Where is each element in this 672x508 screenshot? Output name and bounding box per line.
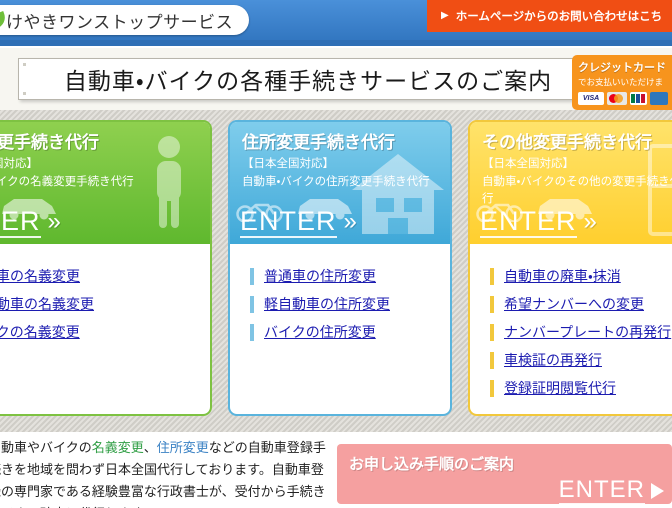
header-underline <box>0 40 672 46</box>
site-header-bar: けやきワンストップサービス ▶ ホームページからのお問い合わせはこち <box>0 0 672 46</box>
list-item[interactable]: ナンバープレートの再発行 <box>470 318 672 346</box>
link-plate-reissue[interactable]: ナンバープレートの再発行 <box>504 322 671 342</box>
apply-enter-link[interactable]: ENTER <box>559 476 664 504</box>
card-enter-link[interactable]: ENTER » <box>480 206 592 238</box>
triangle-right-icon <box>651 483 664 499</box>
apply-guide-box[interactable]: お申し込み手順のご案内 ENTER <box>337 444 672 504</box>
list-item[interactable]: 普通車の住所変更 <box>230 262 450 290</box>
service-card-name-change[interactable]: 名義変更手続き代行 【日本全国対応】 自動車・バイクの名義変更手続き代行 <box>0 120 212 416</box>
list-item[interactable]: 自動車の廃車・抹消 <box>470 262 672 290</box>
list-item[interactable]: 希望ナンバーへの変更 <box>470 290 672 318</box>
card-title: 名義変更手続き代行 <box>0 128 99 153</box>
service-card-row: 名義変更手続き代行 【日本全国対応】 自動車・バイクの名義変更手続き代行 <box>0 120 672 418</box>
link-preferred-number[interactable]: 希望ナンバーへの変更 <box>504 294 644 314</box>
page-title-box: 自動車・バイクの各種手続きサービスのご案内 <box>18 58 598 100</box>
corner-mark-icon <box>23 63 26 66</box>
card-coverage: 【日本全国対応】 <box>482 155 574 171</box>
triangle-right-icon: ▶ <box>441 11 449 21</box>
card-description: 自動車・バイクの名義変更手続き代行 <box>0 173 146 190</box>
house-icon <box>350 150 446 238</box>
intro-line1-b: 、 <box>144 441 157 456</box>
link-name-change-bike[interactable]: バイクの名義変更 <box>0 322 80 342</box>
intro-line1-c: などの自動車登 <box>209 441 300 456</box>
page-title: 自動車・バイクの各種手続きサービスのご案内 <box>64 62 552 96</box>
link-scrap-car[interactable]: 自動車の廃車・抹消 <box>504 266 621 286</box>
card-link-list: 普通車の住所変更 軽自動車の住所変更 バイクの住所変更 <box>230 244 450 346</box>
card-enter-link[interactable]: ENTER » <box>0 206 56 238</box>
apply-guide-title: お申し込み手順のご案内 <box>349 453 514 474</box>
enter-label: ENTER <box>0 206 41 238</box>
link-registration-view-agency[interactable]: 登録証明閲覧代行 <box>504 378 616 398</box>
list-item[interactable]: バイクの住所変更 <box>230 318 450 346</box>
service-card-address-change[interactable]: 住所変更手続き代行 【日本全国対応】 自動車・バイクの住所変更手続き代行 <box>228 120 452 416</box>
page-root: けやきワンストップサービス ▶ ホームページからのお問い合わせはこち 自動車・バ… <box>0 0 672 508</box>
double-chevron-right-icon: » <box>584 210 592 234</box>
intro-line1-blue: 住所変更 <box>157 441 209 456</box>
person-icon <box>146 134 192 230</box>
card-description: 自動車・バイクのその他の変更手続き代行 <box>482 173 672 207</box>
card-coverage: 【日本全国対応】 <box>242 155 334 171</box>
service-card-other-change[interactable]: その他変更手続き代行 【日本全国対応】 自動車・バイクのその他の変更手続き代行 <box>468 120 672 416</box>
card-title: その他変更手続き代行 <box>482 128 652 153</box>
contact-banner[interactable]: ▶ ホームページからのお問い合わせはこち <box>427 0 672 32</box>
enter-label: ENTER <box>559 476 645 504</box>
visa-icon: VISA <box>578 92 604 105</box>
card-description: 自動車・バイクの住所変更手続き代行 <box>242 173 442 190</box>
list-item[interactable]: 軽自動車の住所変更 <box>230 290 450 318</box>
card-link-list: 自動車の廃車・抹消 希望ナンバーへの変更 ナンバープレートの再発行 車検証の再発… <box>470 244 672 402</box>
list-item[interactable]: 車検証の再発行 <box>470 346 672 374</box>
brand-title: けやきワンストップサービス <box>6 8 233 33</box>
amex-icon <box>650 92 668 105</box>
list-item[interactable]: 登録証明閲覧代行 <box>470 374 672 402</box>
enter-label: ENTER <box>480 206 577 238</box>
credit-logo-row: VISA <box>578 92 672 105</box>
card-title: 住所変更手続き代行 <box>242 128 395 153</box>
list-item[interactable]: 軽自動車の名義変更 <box>0 290 210 318</box>
card-coverage: 【日本全国対応】 <box>0 155 38 171</box>
bottom-section: 自動車やバイクの名義変更、住所変更などの自動車登録手続きを地域を問わず日本全国代… <box>0 432 672 508</box>
enter-label: ENTER <box>240 206 337 238</box>
card-link-list: 普通車の名義変更 軽自動車の名義変更 バイクの名義変更 <box>0 244 210 346</box>
link-name-change-standard[interactable]: 普通車の名義変更 <box>0 266 80 286</box>
credit-card-badge: クレジットカード でお支払いいただけま VISA <box>572 55 672 110</box>
contact-banner-label: ホームページからのお問い合わせはこち <box>456 8 662 24</box>
corner-mark-icon <box>23 92 26 95</box>
card-header[interactable]: その他変更手続き代行 【日本全国対応】 自動車・バイクのその他の変更手続き代行 <box>470 122 672 244</box>
credit-badge-title: クレジットカード <box>578 59 672 75</box>
mastercard-icon <box>607 92 627 105</box>
link-address-change-standard[interactable]: 普通車の住所変更 <box>264 266 376 286</box>
link-address-change-bike[interactable]: バイクの住所変更 <box>264 322 376 342</box>
card-header[interactable]: 名義変更手続き代行 【日本全国対応】 自動車・バイクの名義変更手続き代行 <box>0 122 210 244</box>
list-item[interactable]: 普通車の名義変更 <box>0 262 210 290</box>
card-enter-link[interactable]: ENTER » <box>240 206 352 238</box>
list-item[interactable]: バイクの名義変更 <box>0 318 210 346</box>
brand-tab[interactable]: けやきワンストップサービス <box>0 5 249 35</box>
link-address-change-kei[interactable]: 軽自動車の住所変更 <box>264 294 390 314</box>
link-name-change-kei[interactable]: 軽自動車の名義変更 <box>0 294 94 314</box>
double-chevron-right-icon: » <box>344 210 352 234</box>
jcb-icon <box>630 92 647 105</box>
card-header[interactable]: 住所変更手続き代行 【日本全国対応】 自動車・バイクの住所変更手続き代行 <box>230 122 450 244</box>
credit-badge-subtitle: でお支払いいただけま <box>578 76 672 88</box>
intro-line1-a: 自動車やバイクの <box>0 441 92 456</box>
intro-paragraph: 自動車やバイクの名義変更、住所変更などの自動車登録手続きを地域を問わず日本全国代… <box>0 438 333 508</box>
intro-line1-green: 名義変更 <box>92 441 144 456</box>
double-chevron-right-icon: » <box>48 210 56 234</box>
link-inspection-cert-reissue[interactable]: 車検証の再発行 <box>504 350 602 370</box>
